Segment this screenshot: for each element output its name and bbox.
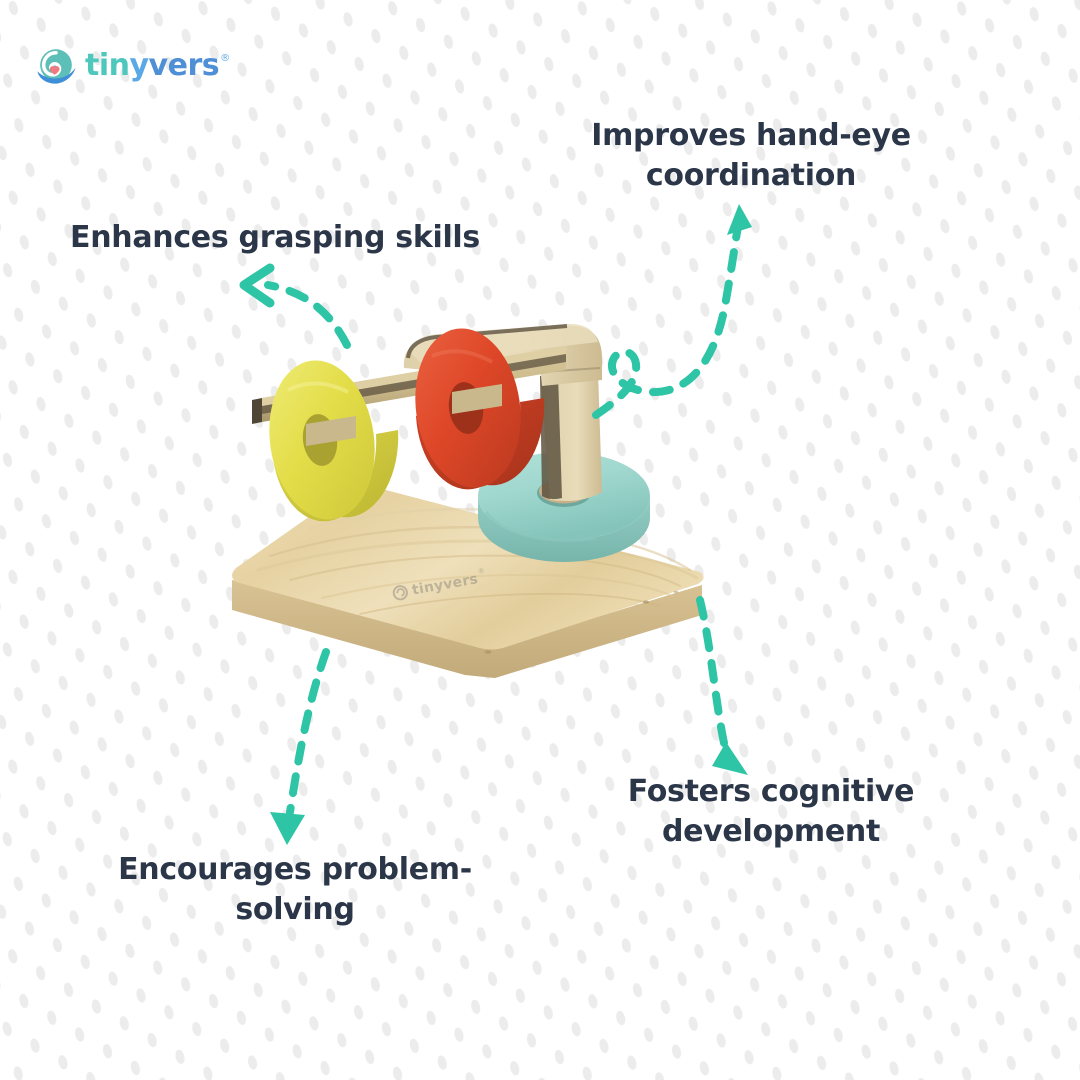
poster-canvas: tin y vers ®	[0, 0, 1080, 1080]
registered-trademark-icon: ®	[220, 53, 230, 64]
callout-label-problem-solving: Encourages problem-solving	[95, 850, 495, 930]
brand-logo[interactable]: tin y vers ®	[34, 40, 234, 92]
brand-name-part1: tin	[85, 51, 129, 81]
brand-wordmark: tin y vers ®	[85, 51, 229, 81]
svg-text:®: ®	[477, 567, 485, 576]
brand-name-part3: vers	[149, 51, 220, 81]
product-photo-wooden-rings-toy: tinyvers ®	[210, 280, 750, 700]
callout-label-grasping-skills: Enhances grasping skills	[60, 218, 490, 258]
tinyvers-planet-heart-icon	[34, 44, 78, 88]
callout-label-hand-eye-coordination: Improves hand-eye coordination	[560, 116, 942, 196]
brand-name-part2: y	[129, 51, 148, 81]
callout-label-cognitive-development: Fosters cognitive development	[616, 772, 926, 852]
